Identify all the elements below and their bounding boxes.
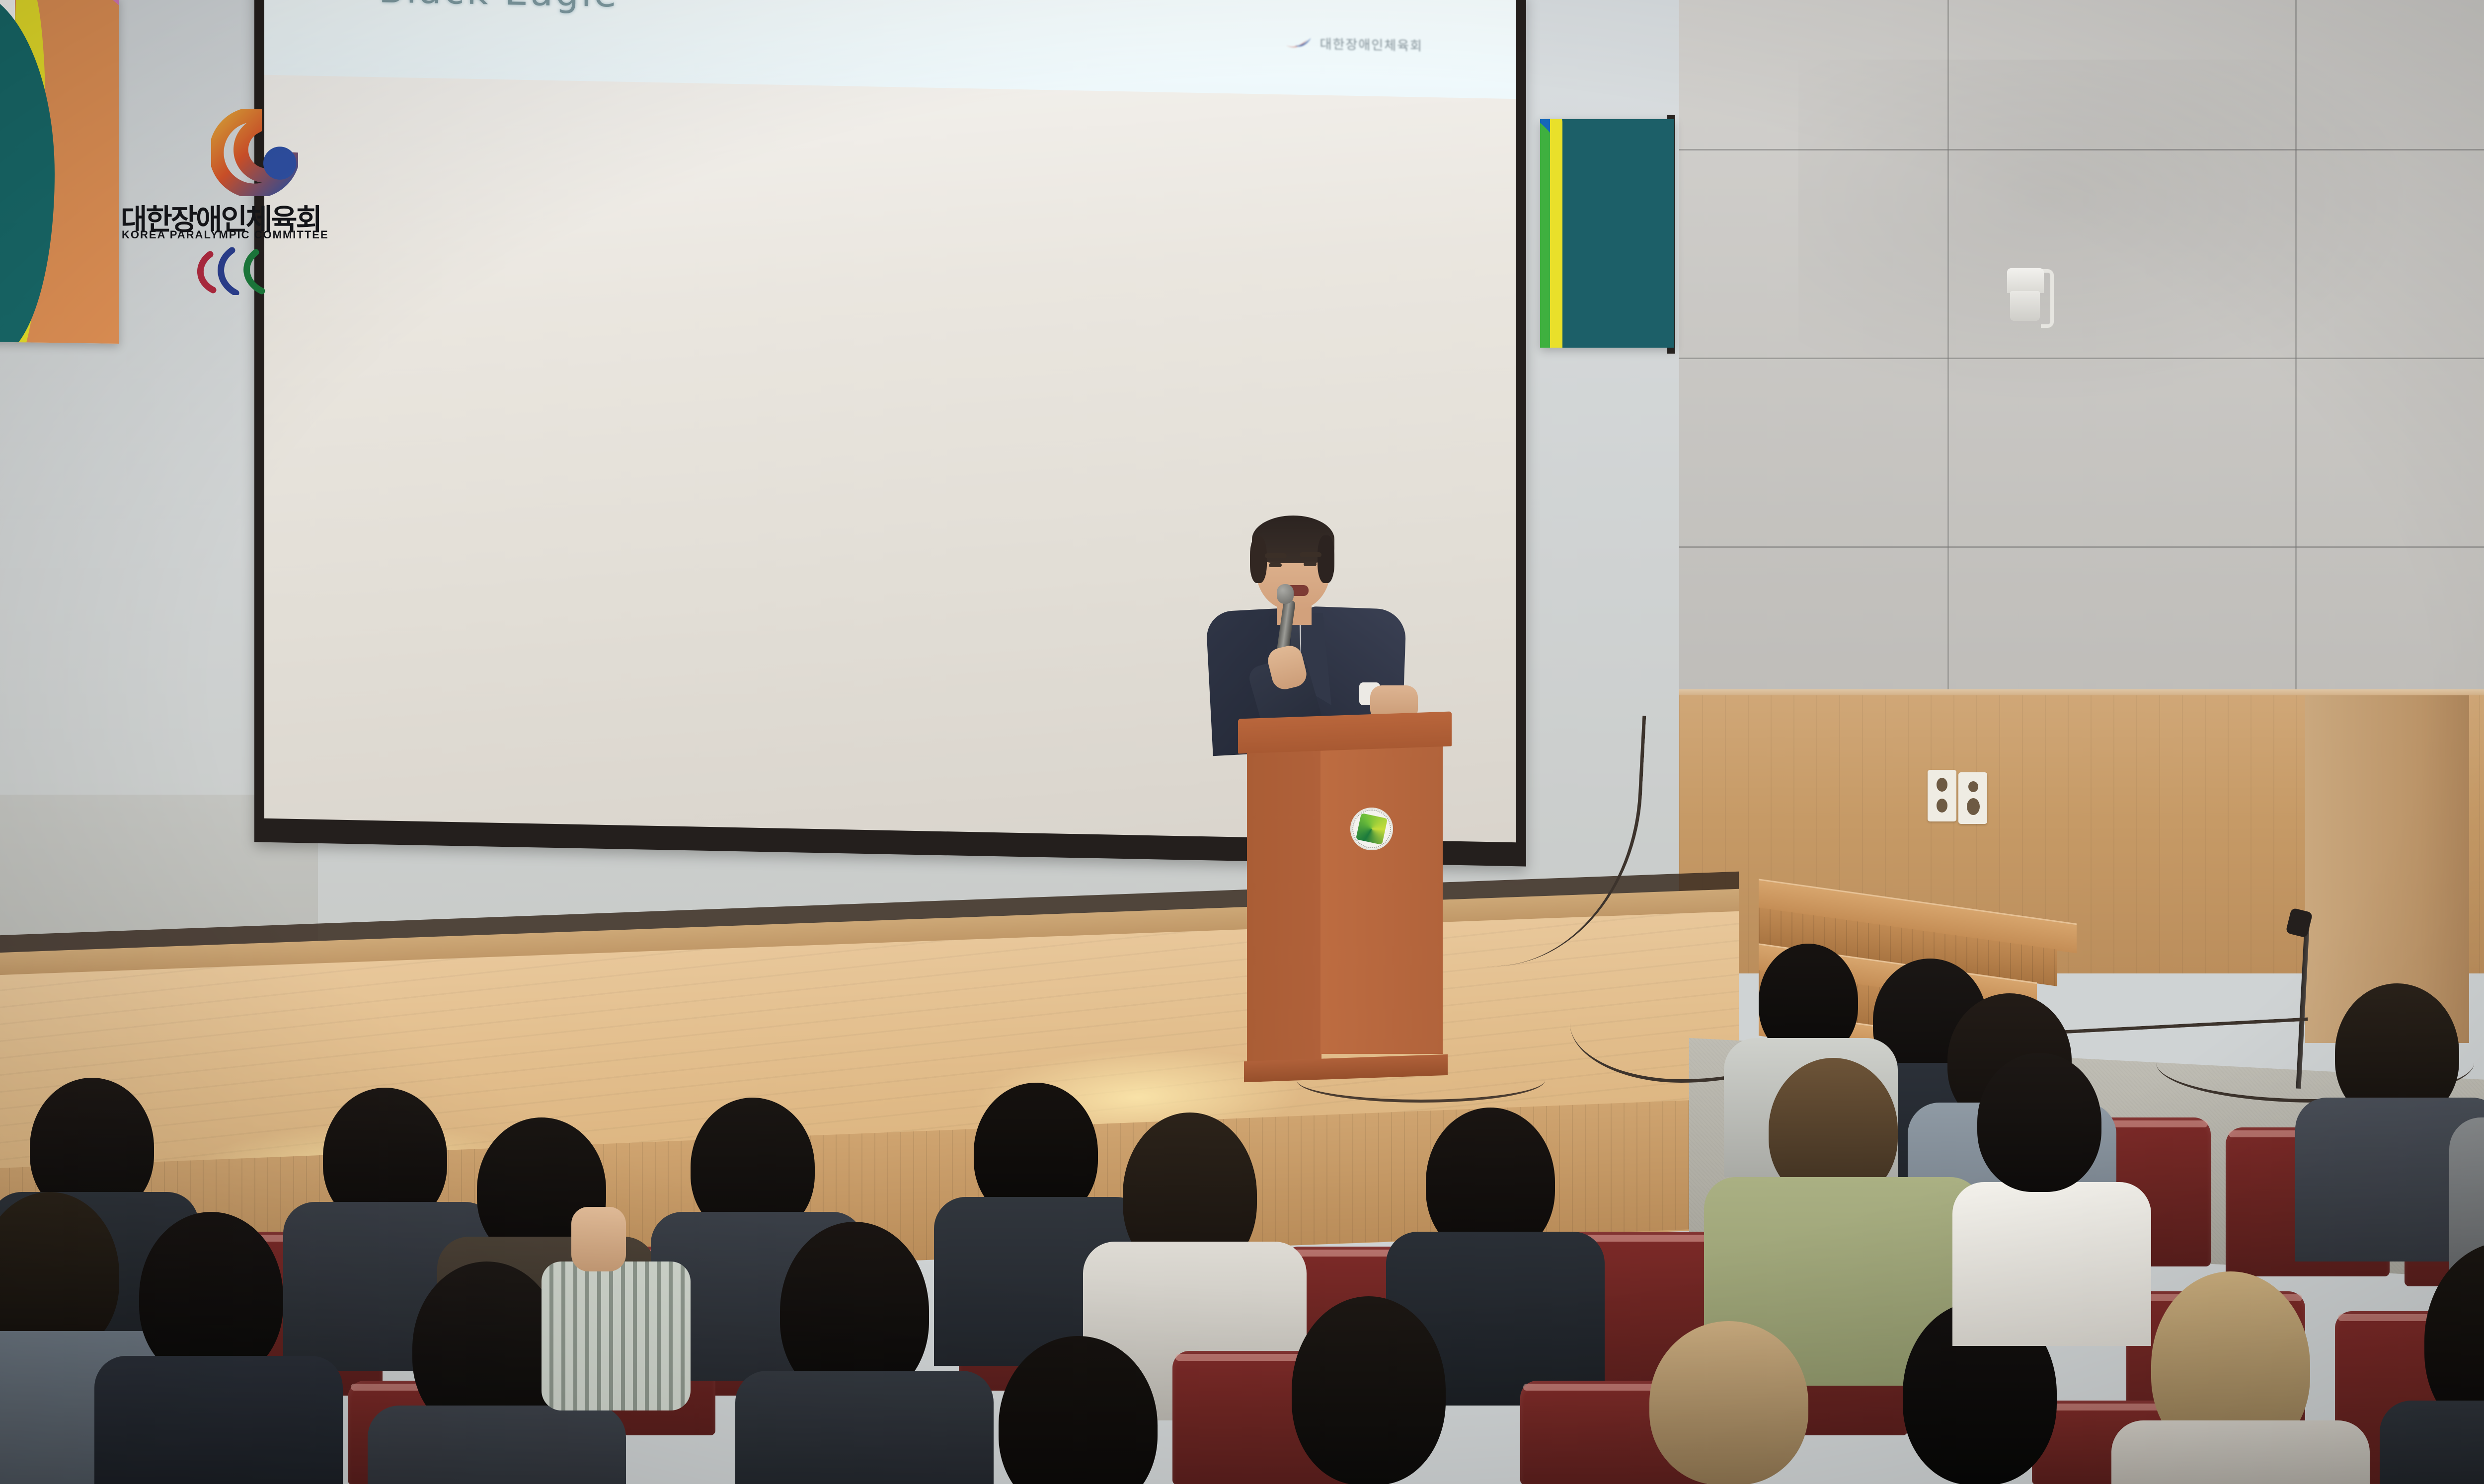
white-shirt-attendee [1952,1182,2151,1346]
slide-corner-logo: 대한장애인체육회 [1285,33,1423,54]
wall-outlet-duplex[interactable] [1928,770,1956,821]
audience-shoulders [2111,1420,2370,1484]
motion-sensor-icon [2007,268,2055,328]
audience-shoulders [735,1371,994,1484]
handheld-microphone-icon [1277,584,1294,604]
podium [1247,715,1451,1093]
audience-head [1292,1296,1446,1484]
speaker-person [1202,512,1436,745]
slide-title: Black Eagle [379,0,619,16]
audience-head [139,1212,283,1381]
banner-right [1540,119,1674,348]
taegeuk-swirl-icon [211,109,298,196]
auditorium-scene: Black Eagle 대한장애인체육회 [0,0,2484,1484]
wall-outlet-single[interactable] [1958,772,1987,824]
audience-head [1977,1053,2101,1192]
audience-head [1649,1321,1808,1484]
audience-shoulders [368,1406,626,1484]
podium-crest-icon [1350,808,1393,850]
swoosh-icon [1285,35,1313,51]
korea-paralympic-logo: 대한장애인체육회 KOREA PARALYMPIC COMMITTEE [117,109,296,273]
audience-shoulders [94,1356,343,1484]
projected-slide: Black Eagle 대한장애인체육회 [264,0,1516,99]
slide-logo-text: 대한장애인체육회 [1320,34,1423,55]
audience-shoulders [2380,1401,2484,1484]
tiled-wall [1679,0,2484,705]
paralympic-agitos-icon [196,247,291,295]
org-name-english: KOREA PARALYMPIC COMMITTEE [122,228,329,241]
banner-left [0,0,119,344]
raised-hand [571,1207,626,1271]
plaid-shirt-attendee [542,1261,691,1410]
